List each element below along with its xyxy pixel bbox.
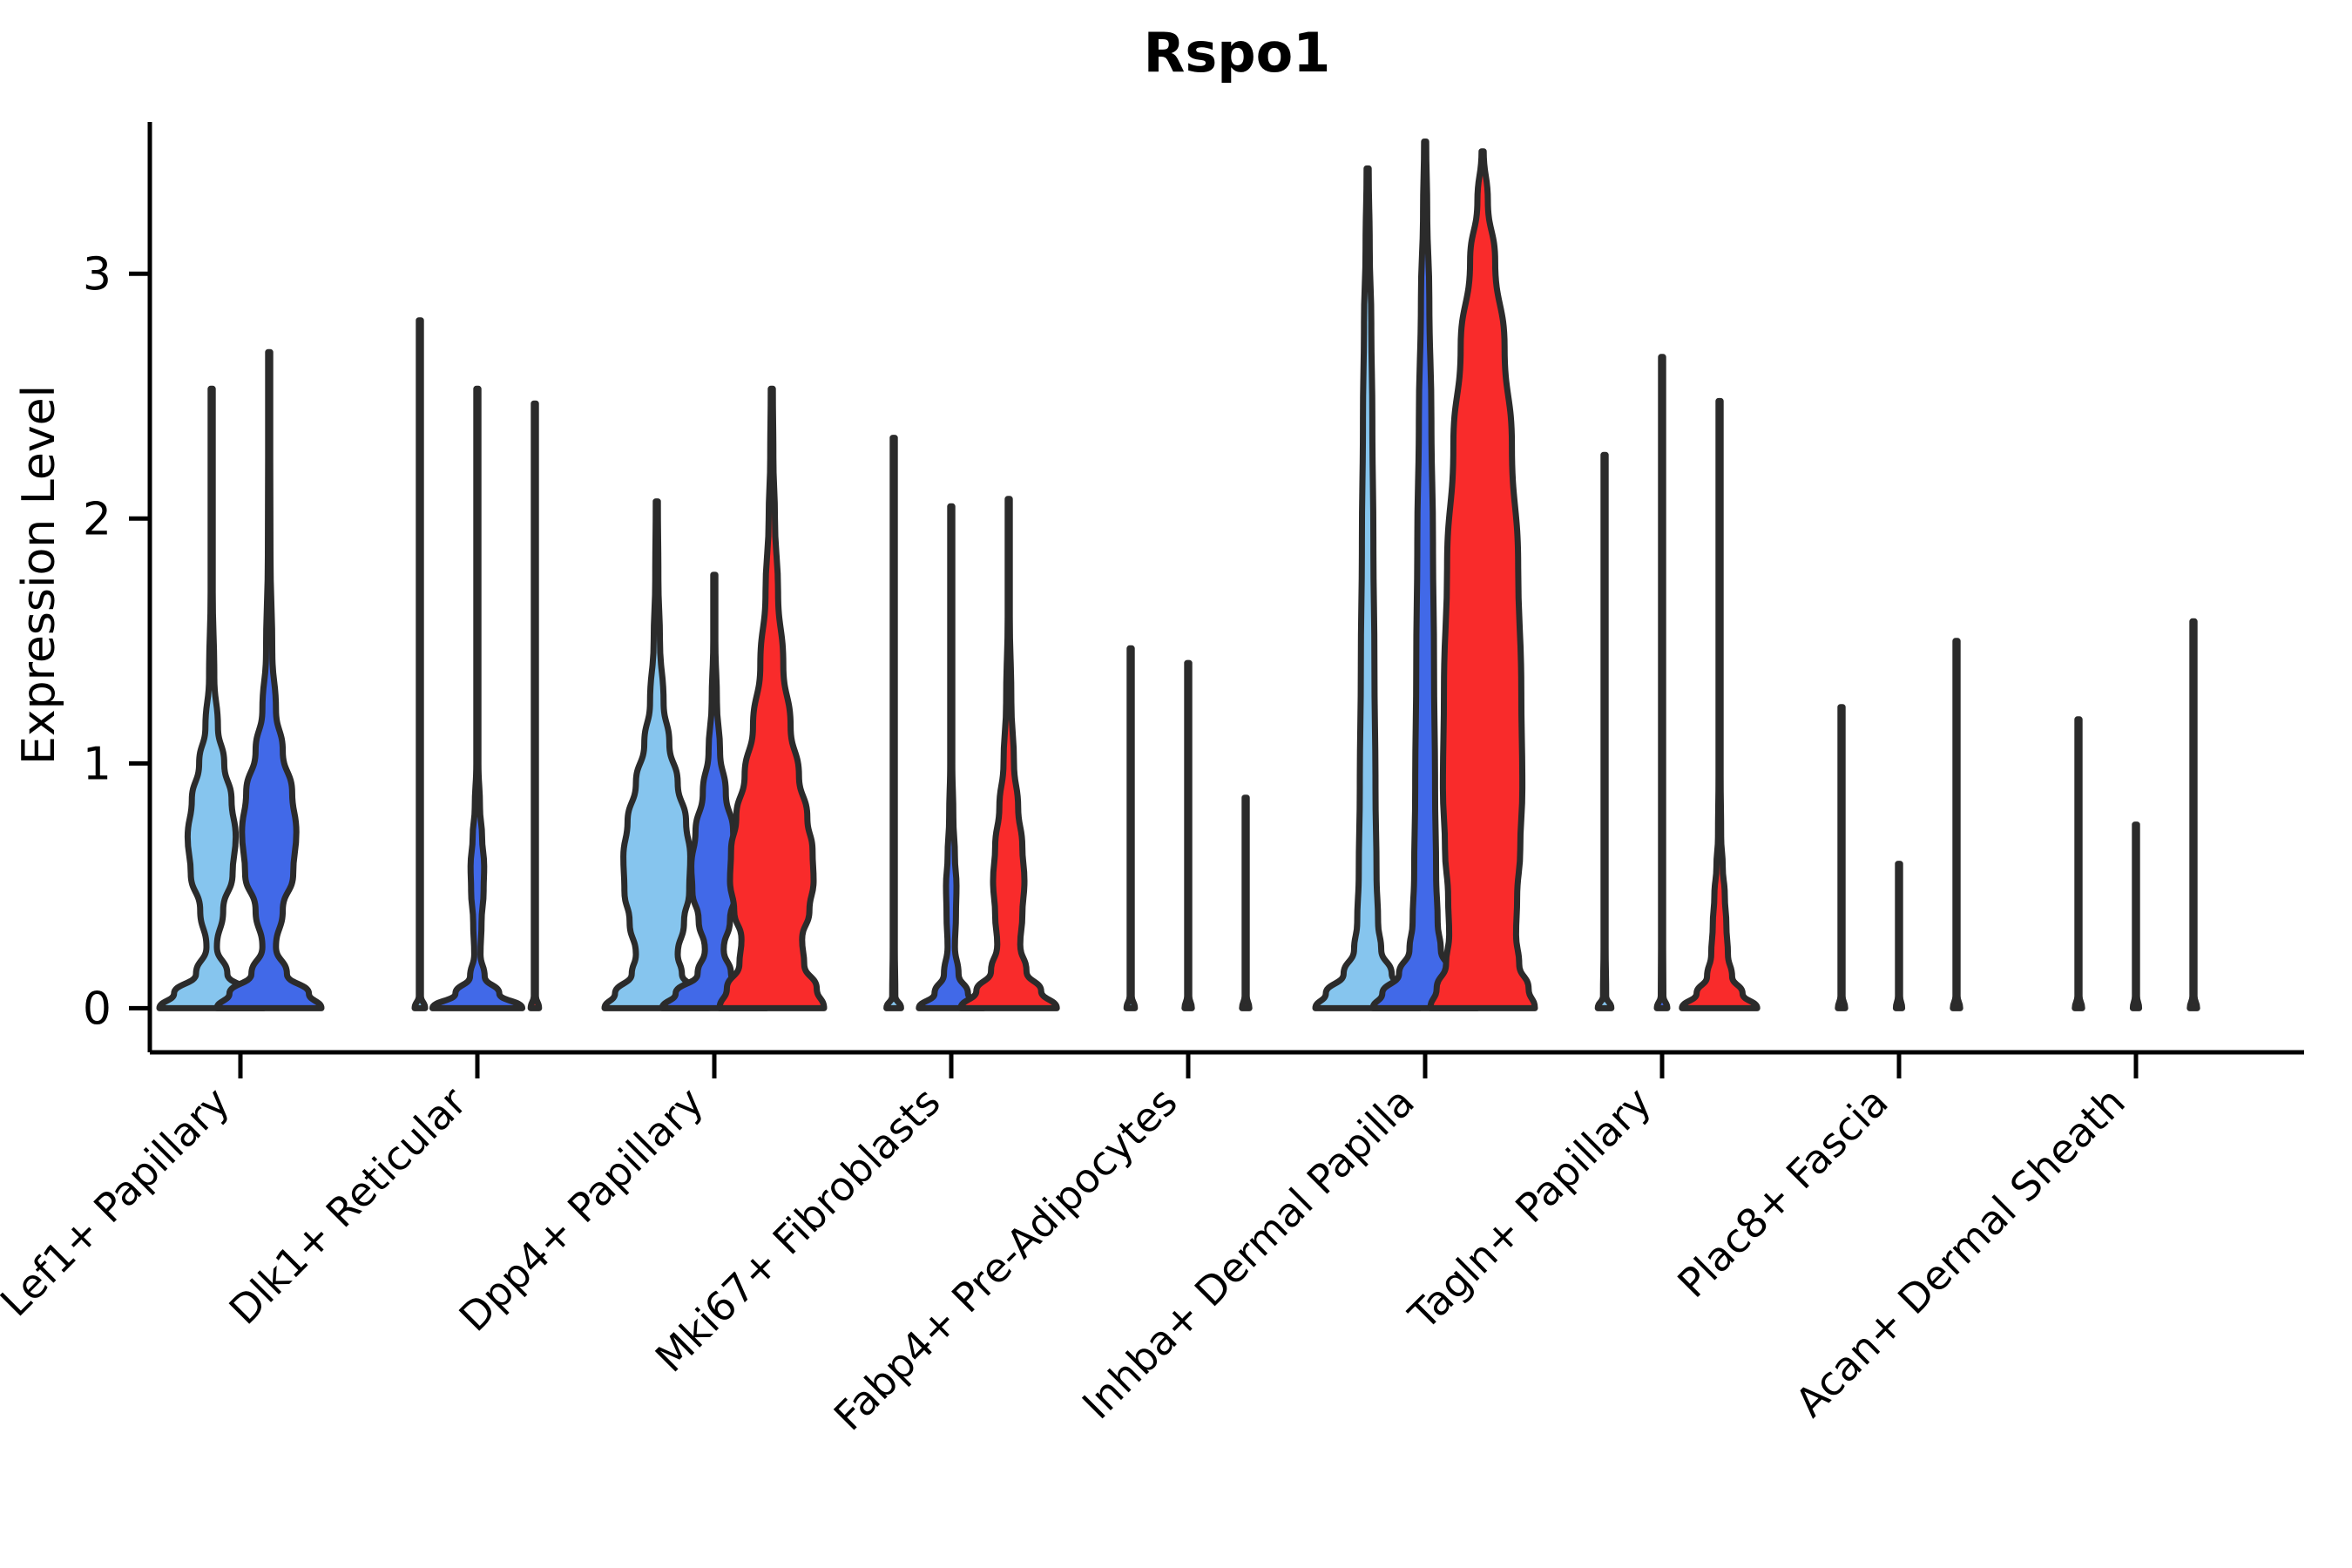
violin-shape bbox=[2075, 720, 2082, 1009]
violin-shape bbox=[2190, 621, 2197, 1008]
violin-shape bbox=[2132, 825, 2139, 1009]
chart-title: Rspo1 bbox=[1144, 21, 1331, 84]
y-tick-label: 2 bbox=[83, 493, 112, 545]
y-axis-label: Expression Level bbox=[13, 385, 65, 765]
y-tick-label: 3 bbox=[83, 248, 112, 301]
violin-plot-figure: Rspo1 Expression Level 0123 Lef1+ Papill… bbox=[0, 0, 2352, 1568]
violin-shape bbox=[1657, 357, 1667, 1009]
violin-shape bbox=[531, 403, 539, 1008]
violin-shape bbox=[1838, 707, 1845, 1009]
violin-shape bbox=[1185, 663, 1192, 1008]
violin-shape bbox=[1953, 641, 1960, 1009]
y-tick-label: 1 bbox=[83, 738, 112, 790]
plot-canvas: Rspo1 Expression Level 0123 Lef1+ Papill… bbox=[0, 0, 2352, 1568]
violin-shape bbox=[415, 321, 425, 1009]
y-tick-label: 0 bbox=[83, 983, 112, 1035]
violin-shape bbox=[1242, 798, 1249, 1009]
violin-shape bbox=[1126, 648, 1135, 1008]
violin-shape bbox=[1896, 864, 1902, 1009]
